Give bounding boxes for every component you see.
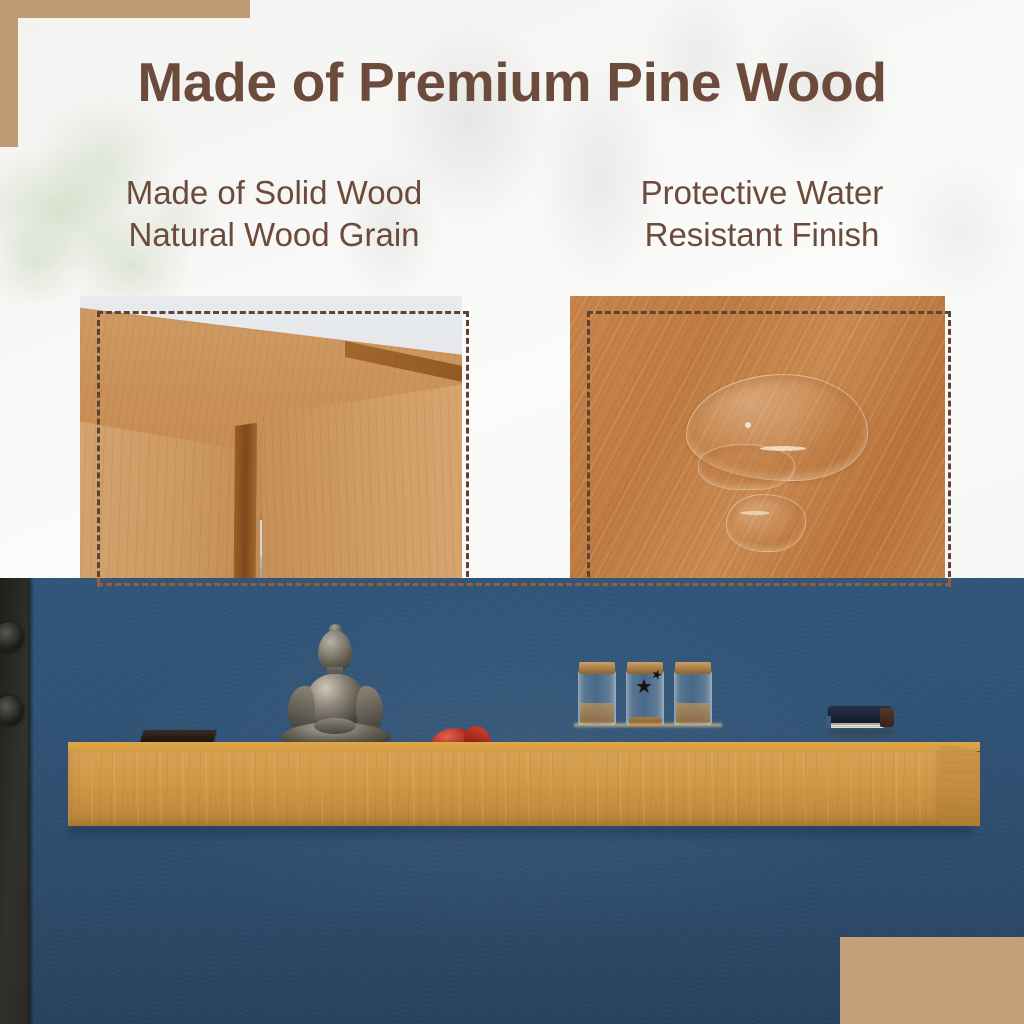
- hardcover-book: [826, 706, 894, 730]
- feature-heading-line-2: Natural Wood Grain: [64, 214, 484, 256]
- jar-cork-lid: [579, 662, 615, 674]
- jar-base-reflection: [574, 723, 722, 727]
- speaker-edge-shadow: [28, 578, 34, 1024]
- corner-block-bottom-right: [840, 937, 1024, 1024]
- shelf-end-cap: [940, 746, 980, 826]
- statue-lap: [314, 718, 356, 734]
- book-spine: [880, 708, 894, 727]
- corner-bracket-horizontal: [0, 0, 250, 18]
- feature-heading-solid-wood: Made of Solid Wood Natural Wood Grain: [64, 172, 484, 256]
- feature-image-water-resistant: [570, 296, 945, 578]
- dashed-callout-tick-left: [97, 578, 100, 587]
- page-title: Made of Premium Pine Wood: [0, 50, 1024, 114]
- jar-contents: [676, 703, 710, 723]
- floating-wall-shelf: [68, 742, 980, 826]
- feature-heading-line-1: Protective Water: [552, 172, 972, 214]
- feature-heading-line-1: Made of Solid Wood: [64, 172, 484, 214]
- water-droplet-small: [726, 494, 806, 552]
- speaker-driver-icon: [0, 622, 24, 652]
- jar-contents: [580, 703, 614, 723]
- shelf-front-face: [68, 751, 940, 826]
- droplet-highlight: [760, 446, 806, 451]
- product-feature-banner: Made of Premium Pine Wood Made of Solid …: [0, 0, 1024, 1024]
- feature-heading-water-resistant: Protective Water Resistant Finish: [552, 172, 972, 256]
- droplet-highlight: [745, 422, 751, 428]
- glass-jar-3: [674, 671, 712, 725]
- statue-head: [318, 630, 352, 672]
- droplet-highlight: [740, 511, 770, 515]
- buddha-statue: [276, 630, 394, 744]
- speaker-driver-icon: [0, 696, 24, 726]
- glass-jar-1: [578, 671, 616, 725]
- shelf-top-surface: [68, 742, 980, 751]
- dashed-callout-bottom-edge: [97, 583, 951, 586]
- shelf-drop-shadow: [68, 826, 972, 842]
- feature-image-solid-wood: [80, 296, 462, 578]
- dashed-callout-tick-right: [948, 578, 951, 587]
- feature-heading-line-2: Resistant Finish: [552, 214, 972, 256]
- book-page-edge: [826, 716, 831, 728]
- speaker-tower: [0, 578, 28, 1024]
- wood-block-corner-edge: [233, 423, 257, 578]
- jar-cork-lid: [675, 662, 711, 674]
- object-shadow: [824, 730, 896, 735]
- glass-jar-2: [626, 671, 664, 725]
